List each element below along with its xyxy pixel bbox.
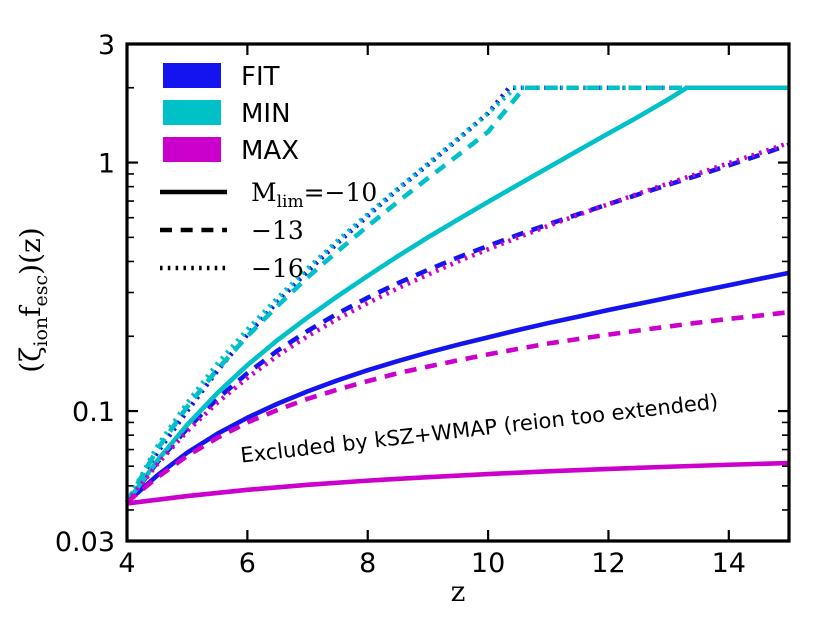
x-tick-label: 4	[118, 548, 135, 579]
ylabel-zeta: ζ	[14, 347, 47, 362]
legend-swatch-min	[163, 100, 221, 125]
x-tick-label: 6	[239, 548, 256, 579]
figure-canvas: 468101214 0.030.113 z (ζionfesc)(z) Excl…	[0, 0, 830, 623]
legend-swatch-max	[163, 137, 221, 162]
ylabel-close: )(z)	[14, 227, 47, 275]
legend-style-label: −13	[251, 216, 304, 245]
ylabel-open: (	[14, 362, 47, 373]
x-axis-label: z	[451, 575, 466, 608]
y-tick-label: 0.03	[55, 527, 115, 558]
x-tick-label: 14	[712, 548, 746, 579]
legend-style-label: Mlim=−10	[251, 178, 377, 212]
x-tick-label: 8	[359, 548, 376, 579]
y-tick-label: 0.1	[72, 397, 115, 428]
x-tick-label: 12	[591, 548, 625, 579]
y-tick-label: 1	[98, 149, 115, 180]
ylabel-f-sub: esc	[30, 275, 52, 307]
chart-background	[0, 0, 830, 623]
legend-label-fit: FIT	[241, 62, 280, 92]
legend-style-label: −16	[251, 254, 304, 283]
ylabel-zeta-sub: ion	[30, 317, 52, 347]
legend-swatch-fit	[163, 63, 221, 88]
legend-label-min: MIN	[241, 99, 291, 129]
x-tick-label: 10	[471, 548, 505, 579]
y-tick-label: 3	[98, 30, 115, 61]
chart-svg: 468101214 0.030.113 z (ζionfesc)(z) Excl…	[0, 0, 830, 623]
legend-label-max: MAX	[241, 136, 299, 166]
